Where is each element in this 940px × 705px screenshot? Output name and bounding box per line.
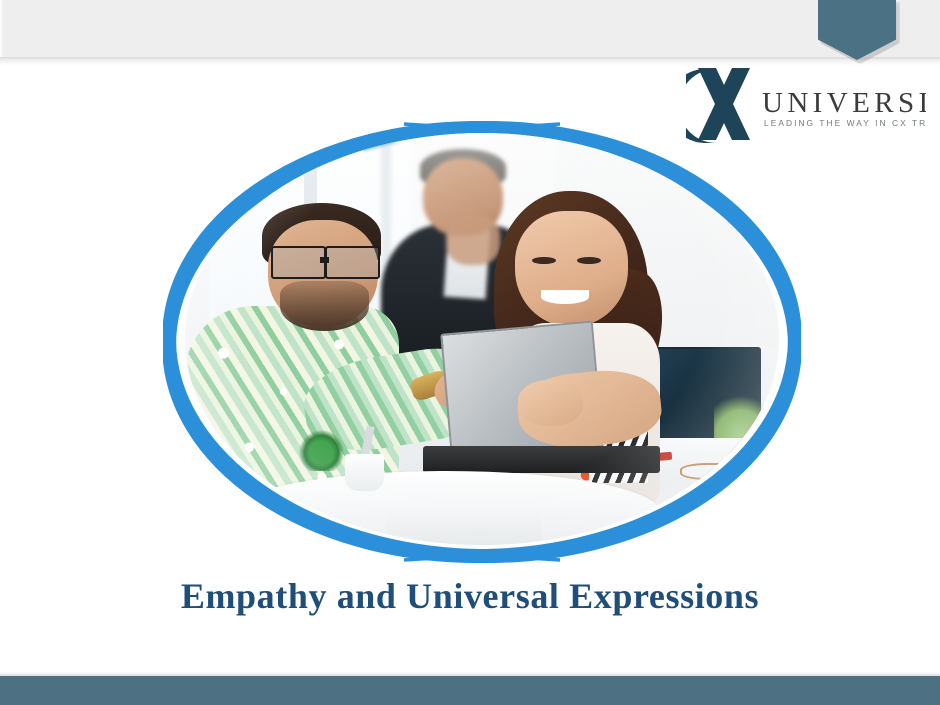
oval-photo-frame	[163, 112, 801, 572]
slide: UNIVERSITY LEADING THE WAY IN CX TRAININ…	[0, 0, 940, 705]
top-band-left-edge	[0, 0, 4, 57]
photo-office-collaboration	[185, 133, 779, 545]
bottom-bar	[0, 676, 940, 705]
top-band	[0, 0, 940, 57]
page-title: Empathy and Universal Expressions	[0, 575, 940, 617]
